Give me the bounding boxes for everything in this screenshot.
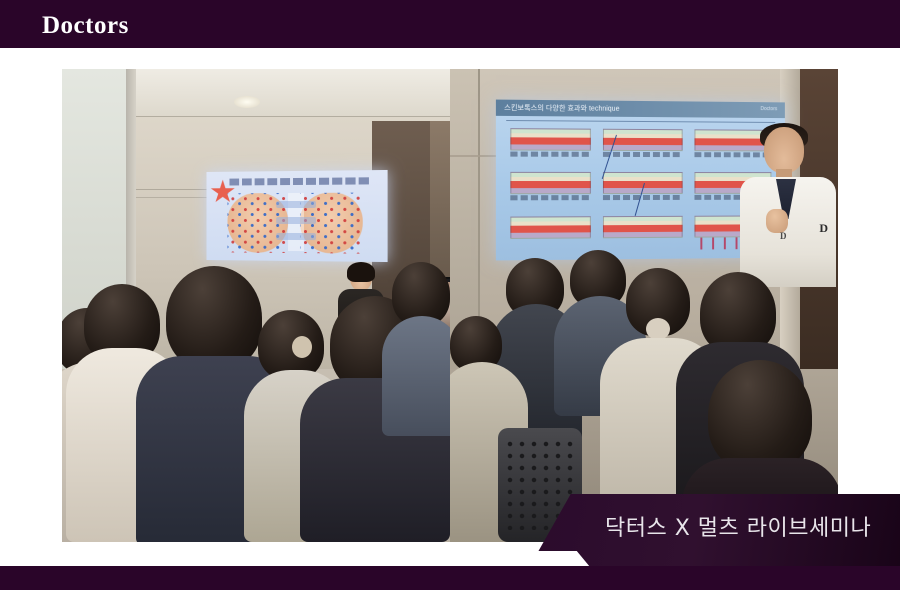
- ceiling-left: [136, 69, 450, 117]
- audience-left: [62, 252, 450, 542]
- audience-head: [708, 360, 812, 472]
- speaker-head: [764, 127, 804, 173]
- diagram-caption: [603, 195, 682, 200]
- photo-panel-left: [62, 69, 450, 542]
- slide-label-chip: [276, 233, 316, 240]
- speaker-hand: [766, 209, 788, 233]
- slide-label-chip: [276, 201, 316, 208]
- slide-title-left: [229, 177, 368, 185]
- bottom-brand-bar: [0, 566, 900, 590]
- audience-head: [166, 266, 262, 370]
- page-title: Doctors: [42, 12, 129, 40]
- projection-screen-left: [207, 170, 388, 262]
- skin-layer-diagram: [510, 172, 591, 194]
- seminar-photo: 스킨보톡스의 다양한 효과와 technique Doctors: [62, 69, 838, 542]
- coat-logo: D: [819, 221, 828, 236]
- hair-tie-icon: [292, 336, 312, 358]
- slide-cell: [506, 166, 595, 206]
- slide-diagram-grid: [506, 122, 775, 250]
- slide-page: Doctors: [0, 0, 900, 590]
- photo-panel-right: 스킨보톡스의 다양한 효과와 technique Doctors: [450, 69, 838, 542]
- skin-layer-diagram: [603, 215, 682, 237]
- ceiling-light-icon: [234, 96, 260, 108]
- caption-text: 닥터스 X 멀츠 라이브세미나: [605, 513, 871, 545]
- top-brand-bar: Doctors: [0, 0, 900, 48]
- diagram-caption: [510, 152, 591, 157]
- skin-layer-diagram: [510, 216, 591, 239]
- coat-logo-secondary: D: [780, 231, 787, 241]
- diagram-caption: [603, 152, 682, 157]
- slide-cell: [506, 122, 595, 162]
- diagram-caption: [510, 195, 591, 200]
- audience-body: [382, 316, 450, 436]
- slide-label-chip: [276, 217, 316, 224]
- hair-tie-icon: [646, 318, 670, 340]
- slide-title-right: 스킨보톡스의 다양한 효과와 technique: [504, 103, 619, 114]
- skin-layer-diagram: [510, 128, 591, 151]
- caption-banner: 닥터스 X 멀츠 라이브세미나: [530, 494, 900, 566]
- slide-brand-label: Doctors: [761, 106, 778, 112]
